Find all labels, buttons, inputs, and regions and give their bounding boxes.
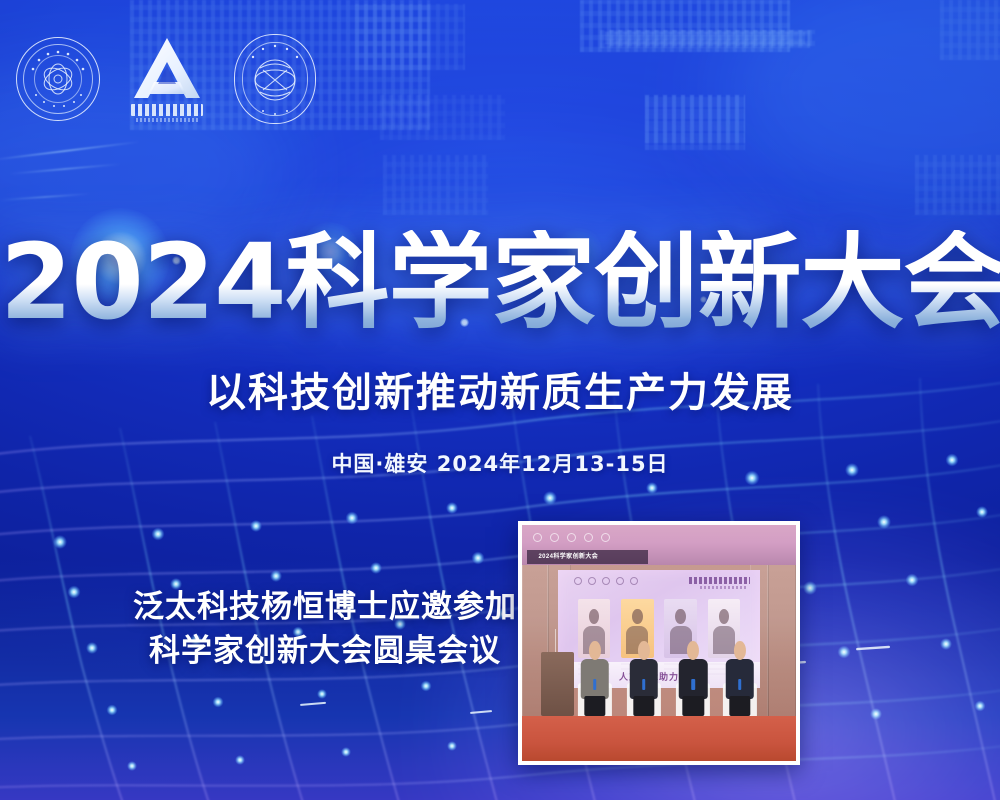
caption-line-1: 泛太科技杨恒博士应邀参加 (133, 589, 517, 625)
poster-root: 2024科学家创新大会 以科技创新推动新质生产力发展 中国·雄安 2024年12… (0, 0, 1000, 800)
circular-academy-seal-icon (16, 37, 100, 121)
photo-podium (541, 652, 574, 716)
photo-panelist (675, 638, 711, 716)
photo-stage-banner-text: 2024科学家创新大会 (538, 551, 598, 560)
photo-panelist (626, 638, 662, 716)
background-data-block (915, 155, 1000, 215)
background-data-block (355, 4, 465, 70)
background-data-block (380, 95, 505, 140)
page-subtitle: 以科技创新推动新质生产力发展 (0, 360, 1000, 418)
photo-ceiling-icons (533, 533, 610, 542)
photo-screen-brand-sub (700, 586, 749, 589)
page-title: 2024科学家创新大会 (0, 230, 1000, 334)
photo-panelist (577, 638, 613, 716)
caption-block: 泛太科技杨恒博士应邀参加 科学家创新大会圆桌会议 (130, 585, 520, 673)
background-data-block (605, 32, 805, 44)
photo-screen-icons (574, 577, 638, 585)
conference-photo: 2024科学家创新大会 人工智能助力新质 (518, 521, 800, 765)
title-block: 2024科学家创新大会 以科技创新推动新质生产力发展 中国·雄安 2024年12… (0, 230, 1000, 478)
photo-podium-mic-icon (555, 629, 556, 653)
photo-stage-floor (522, 716, 796, 761)
background-data-block (383, 155, 488, 215)
logo-row (16, 34, 316, 124)
caption-line-2: 科学家创新大会圆桌会议 (130, 629, 520, 673)
photo-screen-brand (689, 577, 750, 584)
oval-institute-seal-icon (234, 34, 316, 124)
event-location-date: 中国·雄安 2024年12月13-15日 (0, 448, 1000, 478)
triangle-association-logo-icon (128, 36, 206, 122)
photo-panelist (722, 638, 758, 716)
background-data-block (645, 95, 745, 150)
background-data-block (940, 0, 1000, 60)
